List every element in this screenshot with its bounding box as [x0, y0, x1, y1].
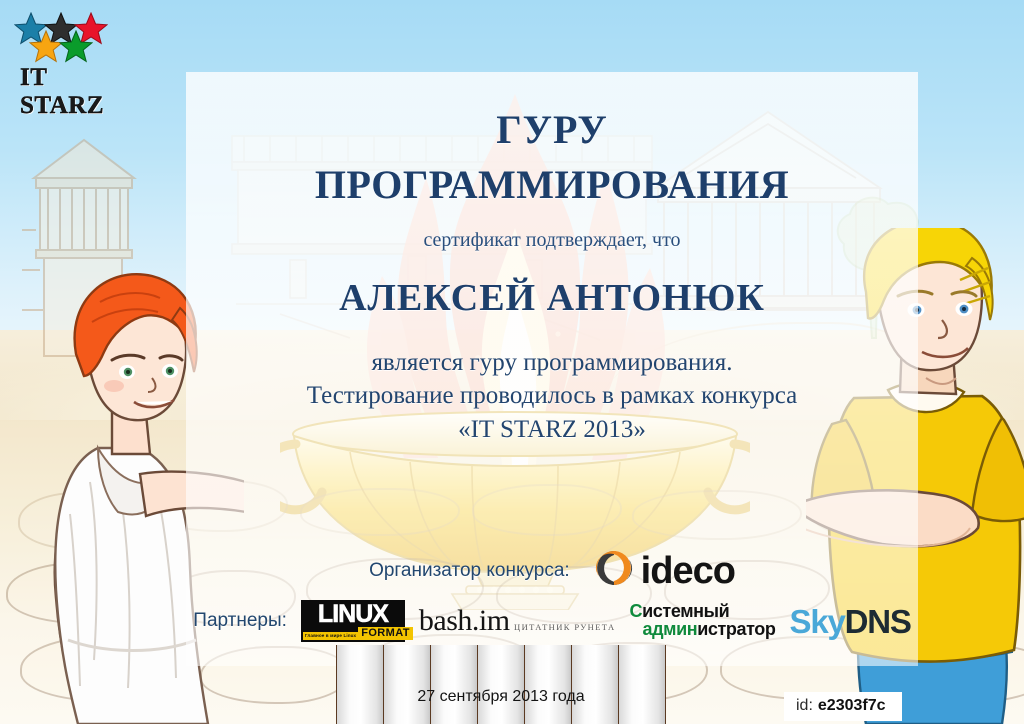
id-value: e2303f7c	[818, 697, 886, 714]
certificate-content: ГУРУ ПРОГРАММИРОВАНИЯ сертификат подтвер…	[186, 72, 918, 666]
sysadm-line2-green: админ	[643, 619, 698, 639]
linux-format-sub: FORMAT	[358, 627, 413, 640]
organizer-row: Организатор конкурса: ideco	[186, 548, 918, 593]
it-starz-logo: IT STARZ	[14, 12, 124, 92]
certificate-id-badge: id:e2303f7c	[784, 692, 902, 721]
certificate-title-line2: ПРОГРАММИРОВАНИЯ	[186, 165, 918, 206]
body-line-1: является гуру программирования.	[186, 346, 918, 380]
column-segment	[431, 645, 478, 724]
column-segment	[478, 645, 525, 724]
partner-bash-im-logo[interactable]: bash.im ЦИТАТНИК РУНЕТА	[419, 606, 616, 636]
id-label: id:	[796, 697, 813, 714]
certificate-title-line1: ГУРУ	[186, 110, 918, 151]
bash-im-main: bash.im	[419, 604, 510, 637]
sysadm-line2-black: истратор	[697, 619, 775, 639]
linux-format-main: LINUX	[303, 602, 403, 626]
logo-wordmark: IT STARZ	[20, 64, 124, 120]
sysadm-line1-black: истемный	[642, 601, 729, 621]
ideco-swirl-icon	[594, 548, 634, 593]
organizer-label: Организатор конкурса:	[369, 560, 570, 582]
certificate-canvas: IT STARZ ГУРУ ПРОГРАММИРОВАНИЯ сертифика…	[0, 0, 1024, 724]
linux-format-tagline: Главное в мире Linux	[303, 632, 358, 640]
sysadm-line1: Системный	[630, 601, 730, 621]
sysadm-line1-green: С	[630, 601, 643, 621]
body-line-3: «IT STARZ 2013»	[186, 413, 918, 447]
partners-label: Партнеры:	[193, 610, 287, 632]
partners-row: Партнеры: LINUX Главное в мире Linux FOR…	[186, 600, 918, 642]
column-segment	[619, 645, 666, 724]
certificate-body: является гуру программирования. Тестиров…	[186, 346, 918, 447]
ideco-logo[interactable]: ideco	[594, 548, 735, 593]
certificate-date: 27 сентября 2013 года	[336, 688, 666, 706]
skydns-part2: DNS	[845, 603, 911, 640]
sysadm-line2: администратор	[643, 619, 776, 639]
column-decoration	[336, 645, 666, 724]
column-segment	[384, 645, 431, 724]
partner-linux-format-logo[interactable]: LINUX Главное в мире Linux FORMAT	[301, 600, 405, 642]
ideco-wordmark: ideco	[641, 552, 735, 590]
column-segment	[336, 645, 384, 724]
body-line-2: Тестирование проводилось в рамках конкур…	[186, 379, 918, 413]
column-segment	[525, 645, 572, 724]
linux-format-bottom: Главное в мире Linux FORMAT	[303, 626, 403, 640]
logo-stars	[14, 12, 119, 58]
skydns-part1: Sky	[790, 603, 845, 640]
column-segment	[572, 645, 619, 724]
recipient-name: АЛЕКСЕЙ АНТОНЮК	[186, 276, 918, 320]
certificate-subtitle: сертификат подтверждает, что	[186, 229, 918, 252]
partner-skydns-logo[interactable]: SkyDNS	[790, 605, 911, 638]
bash-im-sub: ЦИТАТНИК РУНЕТА	[514, 622, 615, 632]
partner-sistemny-administrator-logo[interactable]: Системный администратор	[630, 603, 776, 639]
